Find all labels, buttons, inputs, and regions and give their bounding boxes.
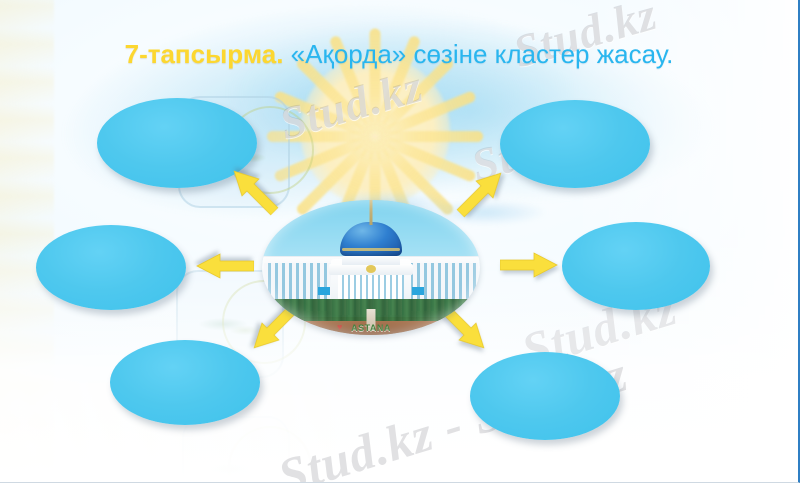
node-mid-right[interactable]	[562, 222, 710, 310]
slide-title: 7-тапсырма. «Ақорда» сөзіне кластер жаса…	[0, 40, 798, 69]
node-bottom-right[interactable]	[470, 352, 620, 440]
arrow-left-icon	[196, 253, 254, 279]
slide-canvas: Stud.kz Stud.kz Stud.kz Stud.kz Stud.kz …	[0, 0, 800, 483]
node-top-right[interactable]	[500, 100, 650, 188]
photo-oval-vignette	[262, 200, 480, 335]
node-mid-left[interactable]	[36, 225, 186, 310]
title-task-number: 7-тапсырма.	[125, 39, 284, 69]
node-bottom-left[interactable]	[110, 340, 260, 425]
title-task-text: «Ақорда» сөзіне кластер жасау.	[291, 39, 674, 69]
ak-orda-palace-image: ♥ ASTANA	[262, 200, 480, 335]
arrow-right-icon	[500, 252, 558, 278]
